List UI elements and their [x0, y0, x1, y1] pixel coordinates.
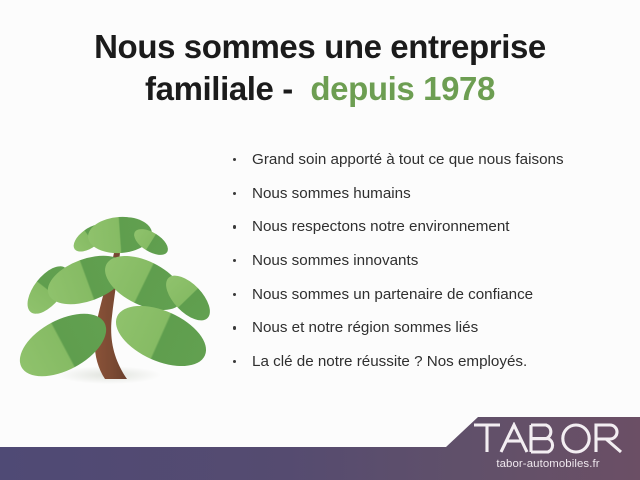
slide-canvas: Nous sommes une entreprise familiale - d…: [0, 0, 640, 480]
title-line-2: familiale - depuis 1978: [0, 68, 640, 110]
list-item-label: Grand soin apporté à tout ce que nous fa…: [252, 151, 564, 168]
bullet-dot-icon: [233, 259, 236, 262]
list-item-label: Nous respectons notre environnement: [252, 218, 510, 235]
list-item-label: Nous et notre région sommes liés: [252, 319, 478, 336]
list-item-label: Nous sommes innovants: [252, 252, 418, 269]
brand-logo: tabor-automobiles.fr: [469, 422, 627, 470]
bullet-dot-icon: [233, 225, 236, 228]
list-item: Nous et notre région sommes liés: [231, 318, 631, 337]
list-item: Nous sommes innovants: [231, 251, 631, 270]
title-line-1: Nous sommes une entreprise: [0, 26, 640, 68]
bullet-dot-icon: [233, 360, 236, 363]
list-item: Nous sommes un partenaire de confiance: [231, 285, 631, 304]
title-line-2-black: familiale -: [145, 70, 310, 107]
title-accent-since-year: depuis 1978: [310, 70, 495, 107]
bullet-dot-icon: [233, 158, 236, 161]
footer-brand-bar: tabor-automobiles.fr: [0, 410, 640, 480]
page-title: Nous sommes une entreprise familiale - d…: [0, 26, 640, 110]
list-item: Nous sommes humains: [231, 184, 631, 203]
brand-wordmark: [469, 422, 627, 454]
brand-tagline: tabor-automobiles.fr: [469, 458, 627, 470]
list-item: Nous respectons notre environnement: [231, 217, 631, 236]
bullet-dot-icon: [233, 293, 236, 296]
list-item: Grand soin apporté à tout ce que nous fa…: [231, 150, 631, 169]
list-item-label: Nous sommes un partenaire de confiance: [252, 286, 533, 303]
list-item-label: La clé de notre réussite ? Nos employés.: [252, 353, 527, 370]
value-proposition-list: Grand soin apporté à tout ce que nous fa…: [231, 150, 631, 385]
bullet-dot-icon: [233, 192, 236, 195]
list-item: La clé de notre réussite ? Nos employés.: [231, 352, 631, 371]
tree-illustration: [8, 150, 222, 392]
list-item-label: Nous sommes humains: [252, 185, 411, 202]
bullet-dot-icon: [233, 326, 236, 329]
